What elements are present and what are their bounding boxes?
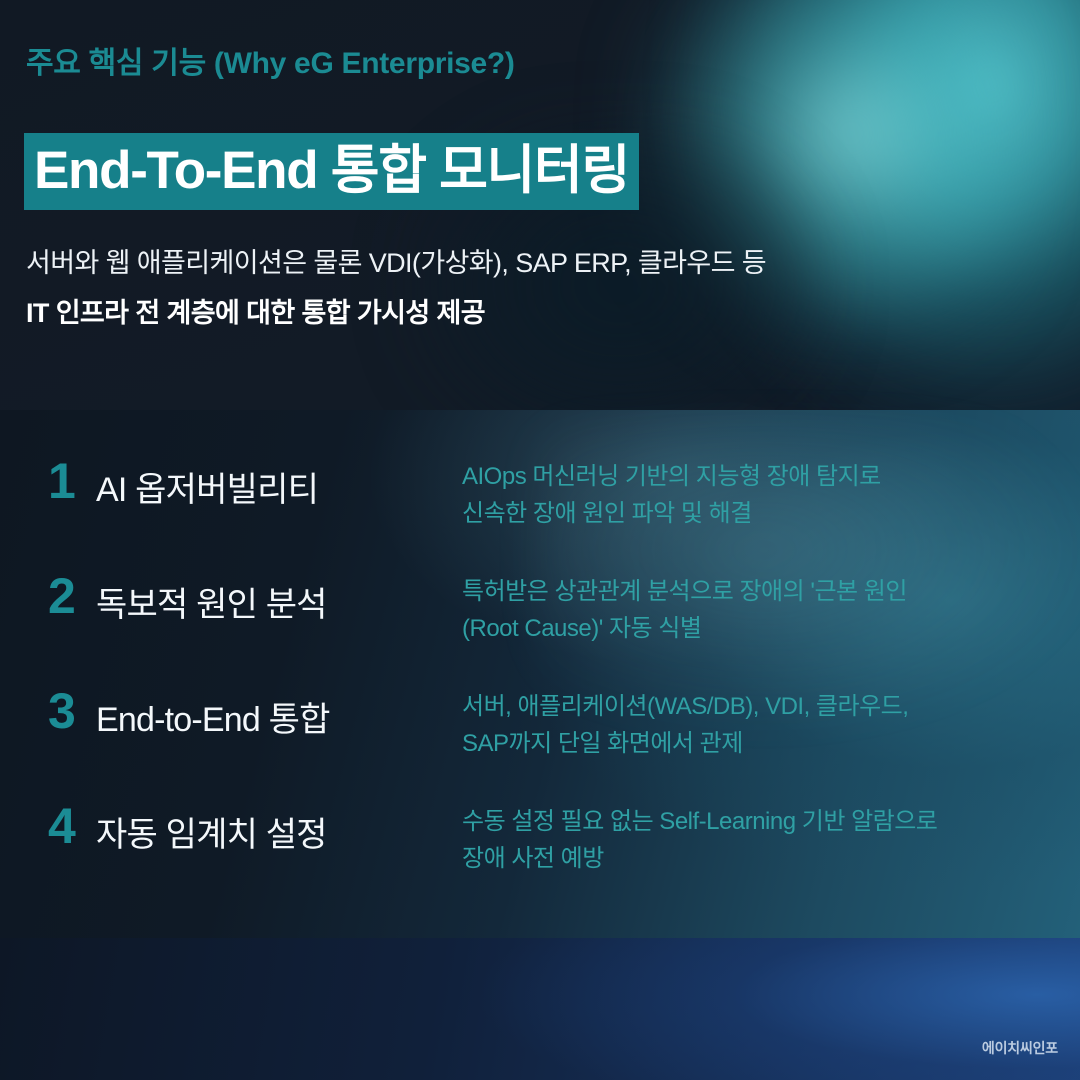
feature-item: 2 독보적 원인 분석 특허받은 상관관계 분석으로 장애의 '근본 원인 (R… xyxy=(0,571,1080,681)
eyebrow-text: 주요 핵심 기능 (Why eG Enterprise?) xyxy=(26,38,515,82)
feature-description-line: 서버, 애플리케이션(WAS/DB), VDI, 클라우드, xyxy=(462,688,1062,725)
feature-number: 4 xyxy=(48,801,94,851)
headline-wrapper: End-To-End 통합 모니터링 xyxy=(24,133,639,210)
slide-canvas: 주요 핵심 기능 (Why eG Enterprise?) End-To-End… xyxy=(0,0,1080,1080)
feature-number: 2 xyxy=(48,571,94,621)
feature-number: 3 xyxy=(48,686,94,736)
feature-title: End-to-End 통합 xyxy=(96,692,330,741)
feature-description-line: 신속한 장애 원인 파악 및 해결 xyxy=(462,495,1062,532)
feature-item: 1 AI 옵저버빌리티 AIOps 머신러닝 기반의 지능형 장애 탐지로 신속… xyxy=(0,456,1080,566)
feature-description: AIOps 머신러닝 기반의 지능형 장애 탐지로 신속한 장애 원인 파악 및… xyxy=(462,458,1062,532)
feature-title: 자동 임계치 설정 xyxy=(96,807,327,856)
feature-number: 1 xyxy=(48,456,94,506)
subtitle-line-1: 서버와 웹 애플리케이션은 물론 VDI(가상화), SAP ERP, 클라우드… xyxy=(26,241,766,280)
feature-title: AI 옵저버빌리티 xyxy=(96,462,318,511)
feature-description-line: AIOps 머신러닝 기반의 지능형 장애 탐지로 xyxy=(462,458,1062,495)
header-section: 주요 핵심 기능 (Why eG Enterprise?) End-To-End… xyxy=(0,0,1080,410)
page-title: End-To-End 통합 모니터링 xyxy=(24,133,639,210)
watermark: 에이치씨인포 xyxy=(982,1038,1058,1058)
subtitle-line-2: IT 인프라 전 계층에 대한 통합 가시성 제공 xyxy=(26,291,485,330)
feature-description: 서버, 애플리케이션(WAS/DB), VDI, 클라우드, SAP까지 단일 … xyxy=(462,688,1062,762)
feature-description-line: 특허받은 상관관계 분석으로 장애의 '근본 원인 xyxy=(462,573,1062,610)
feature-item: 3 End-to-End 통합 서버, 애플리케이션(WAS/DB), VDI,… xyxy=(0,686,1080,796)
feature-description-line: (Root Cause)' 자동 식별 xyxy=(462,610,1062,647)
feature-description: 특허받은 상관관계 분석으로 장애의 '근본 원인 (Root Cause)' … xyxy=(462,573,1062,647)
feature-description-line: 수동 설정 필요 없는 Self-Learning 기반 알람으로 xyxy=(462,803,1062,840)
feature-description-line: SAP까지 단일 화면에서 관제 xyxy=(462,725,1062,762)
features-list: 1 AI 옵저버빌리티 AIOps 머신러닝 기반의 지능형 장애 탐지로 신속… xyxy=(0,410,1080,938)
feature-item: 4 자동 임계치 설정 수동 설정 필요 없는 Self-Learning 기반… xyxy=(0,801,1080,911)
bottom-band xyxy=(0,938,1080,1080)
feature-title: 독보적 원인 분석 xyxy=(96,577,327,626)
feature-description: 수동 설정 필요 없는 Self-Learning 기반 알람으로 장애 사전 … xyxy=(462,803,1062,877)
feature-description-line: 장애 사전 예방 xyxy=(462,840,1062,877)
